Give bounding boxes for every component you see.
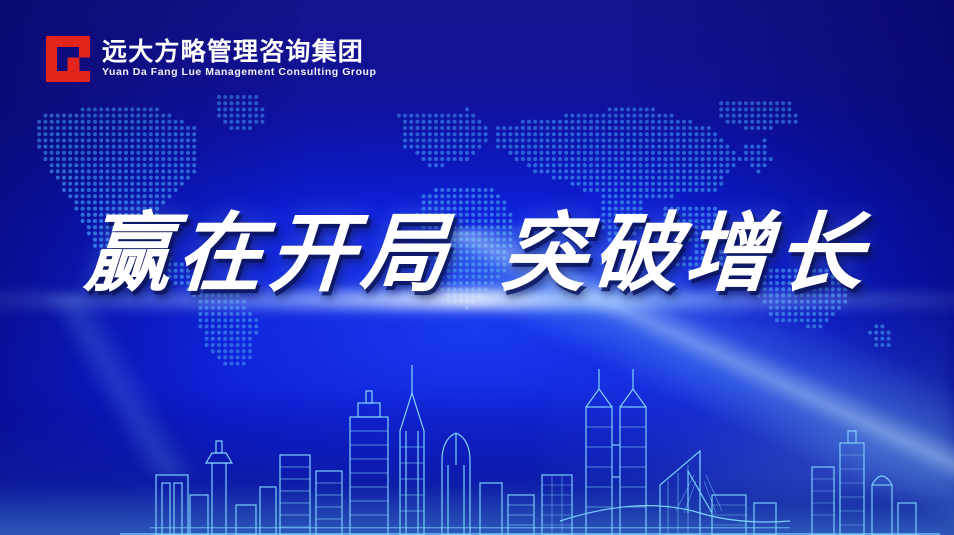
- brand-text: 远大方略管理咨询集团 Yuan Da Fang Lue Management C…: [102, 39, 376, 79]
- banner-stage: 远大方略管理咨询集团 Yuan Da Fang Lue Management C…: [0, 0, 954, 535]
- brand-logo: 远大方略管理咨询集团 Yuan Da Fang Lue Management C…: [46, 36, 376, 82]
- brand-name-en: Yuan Da Fang Lue Management Consulting G…: [102, 67, 376, 79]
- diagonal-light-beam: [446, 201, 954, 535]
- left-light-beam: [0, 295, 260, 475]
- brand-name-cn: 远大方略管理咨询集团: [102, 39, 376, 65]
- square-spiral-logo-icon: [46, 36, 90, 82]
